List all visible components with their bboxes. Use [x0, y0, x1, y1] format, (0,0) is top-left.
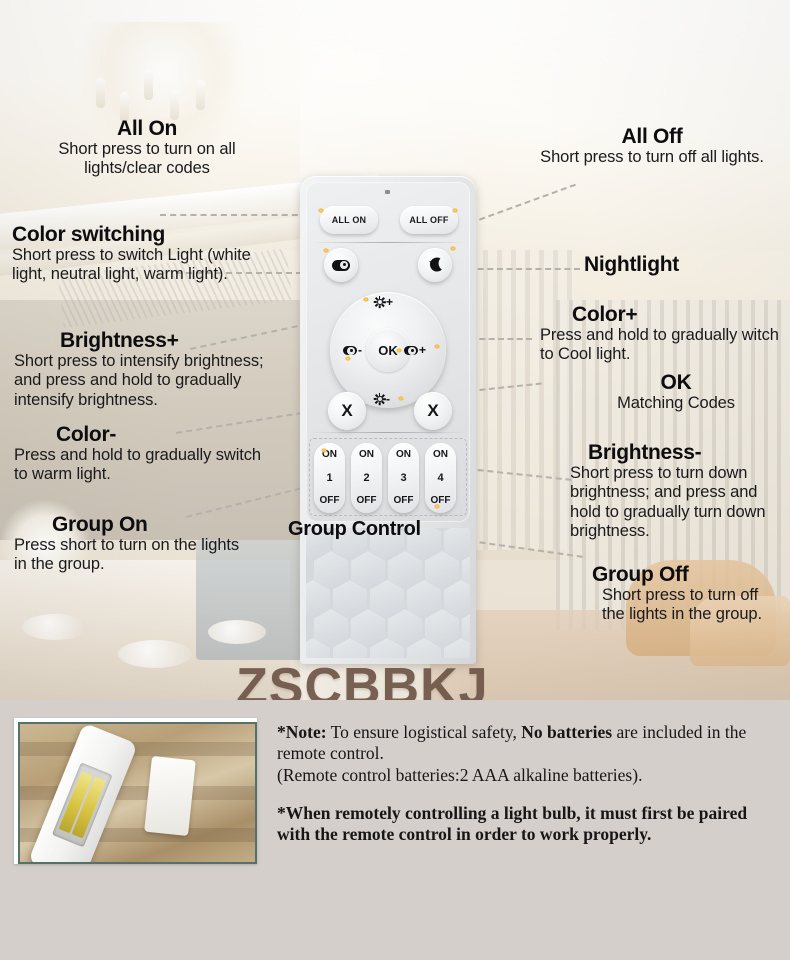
battery-compartment-photo	[14, 718, 257, 864]
battery-cover	[144, 756, 196, 836]
group-control-section: ON 1 OFF ON 2 OFF ON 3 OFF ON 4 OFF	[309, 438, 467, 516]
leader-line-nightlight	[468, 268, 580, 270]
callout-desc: Short press to turn off all lights.	[518, 148, 786, 167]
button-glint	[323, 248, 329, 253]
all-on-button-label: ALL ON	[332, 215, 367, 225]
callout-group-on: Group On Press short to turn on the ligh…	[14, 514, 254, 575]
callout-desc: Press and hold to gradually switch to wa…	[14, 446, 266, 484]
callout-desc: Press and hold to gradually witch to Coo…	[540, 326, 790, 364]
group-button-3[interactable]: ON 3 OFF	[388, 443, 419, 513]
all-off-button-label: ALL OFF	[409, 215, 448, 225]
brightness-down-label: -	[386, 392, 390, 406]
callout-title: All Off	[518, 126, 786, 148]
color-up-button[interactable]: +	[404, 343, 426, 357]
button-glint	[452, 208, 458, 213]
color-down-button[interactable]: -	[343, 343, 362, 357]
face-divider	[310, 432, 466, 433]
sun-icon	[374, 394, 385, 405]
moon-star-icon	[425, 255, 445, 275]
photo-inner-frame	[18, 722, 257, 864]
callout-desc: Short press to switch Light (white light…	[12, 246, 274, 284]
callout-desc: Press short to turn on the lights in the…	[14, 536, 254, 574]
callout-desc: Short press to turn down brightness; and…	[570, 464, 784, 541]
callout-ok: OK Matching Codes	[576, 372, 776, 413]
button-glint	[398, 396, 404, 401]
group-on-button[interactable]: X	[328, 392, 366, 430]
callout-color-up: Color+ Press and hold to gradually witch…	[540, 304, 790, 365]
button-glint	[396, 348, 402, 353]
callout-all-on: All On Short press to turn on all lights…	[22, 118, 272, 179]
group-number-label: 3	[400, 472, 406, 484]
wood-plank	[20, 742, 257, 756]
note-label: *Note:	[277, 722, 327, 742]
group-on-label: ON	[433, 449, 448, 460]
brightness-up-button[interactable]: +	[374, 295, 393, 309]
group-number-label: 2	[363, 472, 369, 484]
all-on-button[interactable]: ALL ON	[320, 206, 378, 234]
product-infographic: All On Short press to turn on all lights…	[0, 0, 790, 960]
callout-nightlight: Nightlight	[584, 254, 790, 276]
group-button-1[interactable]: ON 1 OFF	[314, 443, 345, 513]
button-glint	[363, 297, 369, 302]
callout-title: Group On	[52, 514, 254, 536]
remote-honeycomb-texture	[306, 528, 470, 658]
note-paragraph-1: *Note: To ensure logistical safety, No b…	[277, 722, 777, 786]
callout-title: Color switching	[12, 224, 274, 246]
notes-text-block: *Note: To ensure logistical safety, No b…	[277, 722, 777, 863]
group-button-4[interactable]: ON 4 OFF	[425, 443, 456, 513]
group-on-label: ON	[396, 449, 411, 460]
callout-title: OK	[576, 372, 776, 394]
note-battery-spec: (Remote control batteries:2 AAA alkaline…	[277, 765, 642, 785]
button-glint	[450, 246, 456, 251]
face-divider	[310, 242, 466, 243]
group-off-label: OFF	[357, 495, 377, 506]
group-button-2[interactable]: ON 2 OFF	[351, 443, 382, 513]
callout-desc: Matching Codes	[576, 394, 776, 413]
callout-group-off: Group Off Short press to turn off the li…	[592, 564, 782, 625]
group-number-label: 1	[326, 472, 332, 484]
callout-desc: Short press to intensify brightness; and…	[14, 352, 282, 409]
nightlight-button[interactable]	[418, 248, 452, 282]
callout-all-off: All Off Short press to turn off all ligh…	[518, 126, 786, 167]
callout-color-down: Color- Press and hold to gradually switc…	[14, 424, 266, 485]
callout-color-switching: Color switching Short press to switch Li…	[12, 224, 274, 285]
group-off-label: OFF	[320, 495, 340, 506]
callout-title: Brightness-	[588, 442, 784, 464]
remote-control-device: ALL ON ALL OFF OK	[300, 176, 476, 664]
callout-title: Color+	[572, 304, 790, 326]
color-half-icon	[404, 346, 418, 355]
color-switch-icon	[332, 260, 350, 271]
button-glint	[321, 448, 327, 453]
button-glint	[434, 504, 440, 509]
group-number-label: 4	[437, 472, 443, 484]
callout-brightness-down: Brightness- Short press to turn down bri…	[570, 442, 784, 541]
x-right-label: X	[427, 401, 438, 421]
note-text: To ensure logistical safety,	[327, 722, 522, 742]
x-left-label: X	[341, 401, 352, 421]
callout-brightness-up: Brightness+ Short press to intensify bri…	[14, 330, 282, 410]
color-up-label: +	[419, 343, 426, 357]
ok-button-label: OK	[378, 343, 398, 358]
color-down-label: -	[358, 343, 362, 357]
all-off-button[interactable]: ALL OFF	[400, 206, 458, 234]
callout-desc: Short press to turn on all lights/clear …	[22, 140, 272, 178]
button-glint	[345, 356, 351, 361]
note-paragraph-2: *When remotely controlling a light bulb,…	[277, 803, 777, 846]
sun-icon	[374, 297, 385, 308]
callout-title: Color-	[56, 424, 266, 446]
callout-title: Brightness+	[60, 330, 282, 352]
note-emphasis: No batteries	[521, 722, 612, 742]
button-glint	[318, 208, 324, 213]
color-half-icon	[343, 346, 357, 355]
callout-title: Nightlight	[584, 254, 790, 276]
ir-emitter-icon	[385, 190, 390, 194]
group-control-caption: Group Control	[288, 518, 421, 541]
color-switching-button[interactable]	[324, 248, 358, 282]
brightness-down-button[interactable]: -	[374, 392, 390, 406]
leader-line-all-on	[160, 214, 308, 216]
button-glint	[434, 344, 440, 349]
group-off-label: OFF	[394, 495, 414, 506]
callout-desc: Short press to turn off the lights in th…	[602, 586, 782, 624]
brightness-up-label: +	[386, 295, 393, 309]
group-off-button[interactable]: X	[414, 392, 452, 430]
leader-line-color-up	[470, 338, 532, 340]
callout-title: Group Off	[592, 564, 782, 586]
callout-title: All On	[22, 118, 272, 140]
group-on-label: ON	[359, 449, 374, 460]
